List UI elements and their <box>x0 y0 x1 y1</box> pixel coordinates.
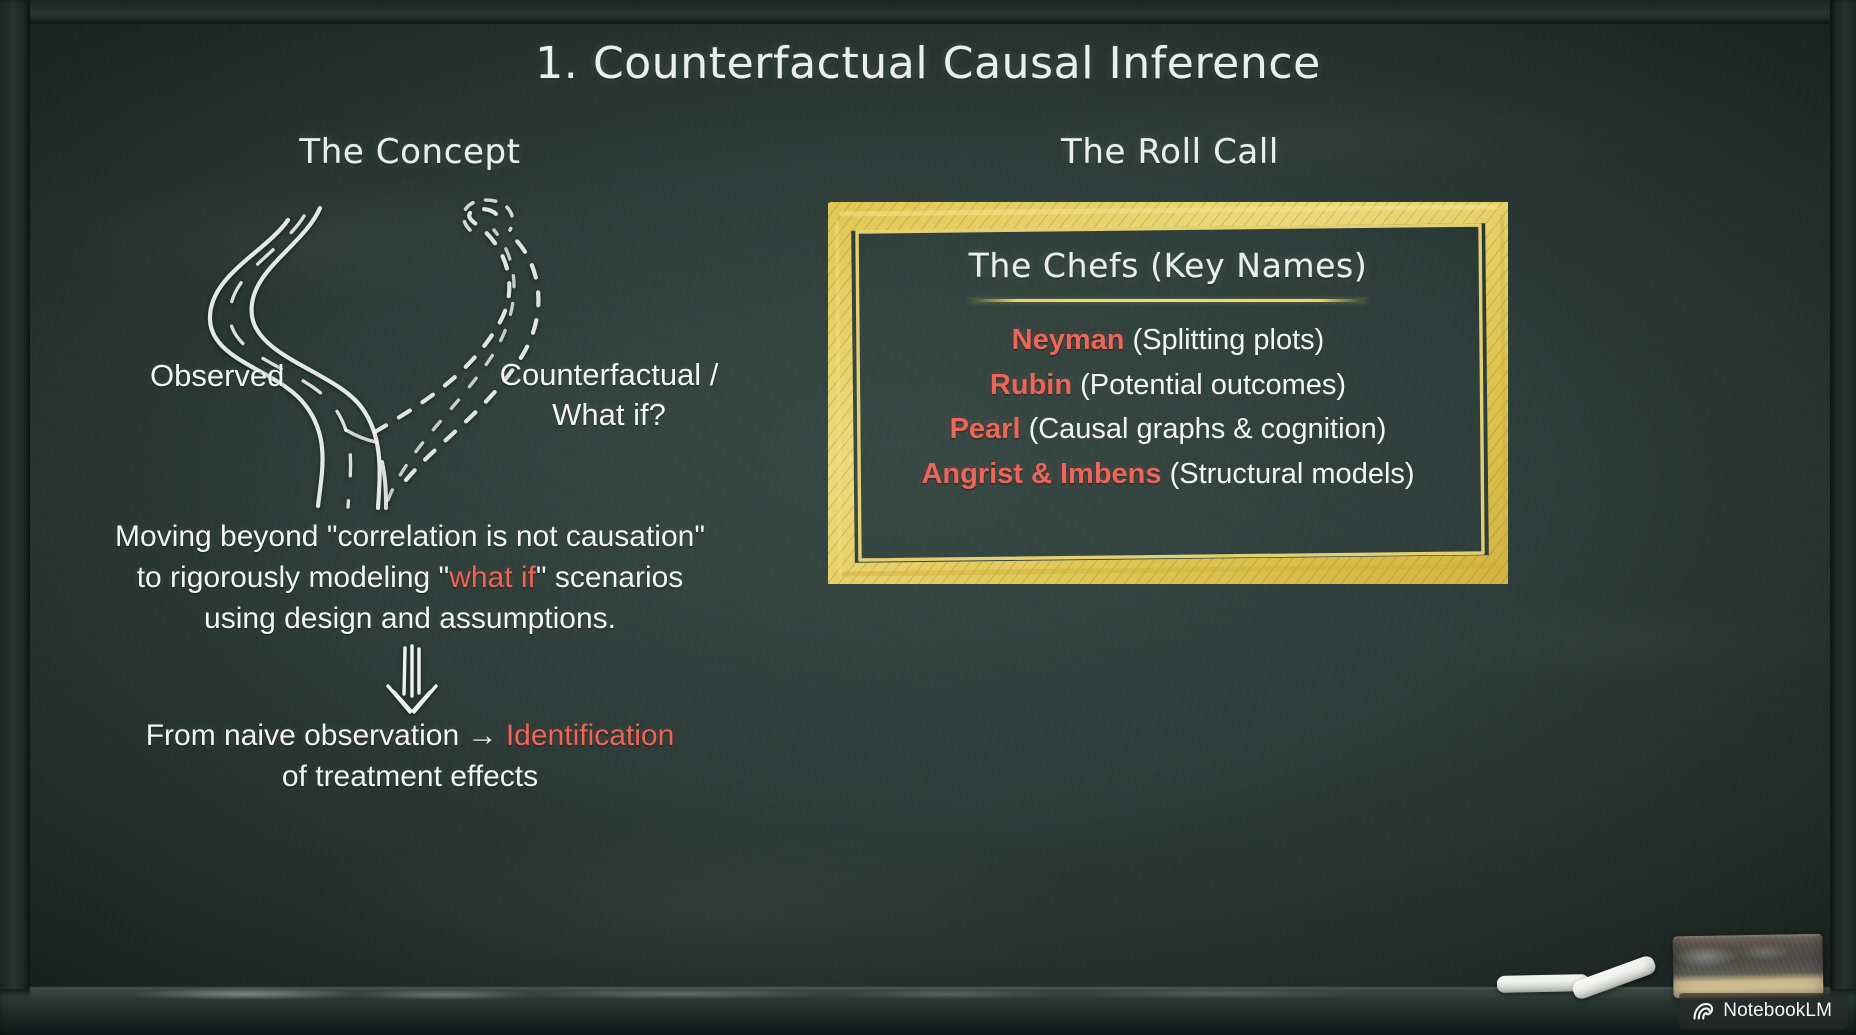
board-frame-top <box>0 0 1856 24</box>
chef-entry-angrist-imbens: Angrist & Imbens (Structural models) <box>921 452 1414 497</box>
chef-desc-neyman: (Splitting plots) <box>1124 324 1324 356</box>
chef-name-rubin: Rubin <box>990 369 1072 401</box>
chef-desc-angrist-imbens: (Structural models) <box>1162 458 1415 490</box>
notebooklm-label: NotebookLM <box>1723 1000 1832 1022</box>
concept-paragraph: Moving beyond "correlation is not causat… <box>60 516 760 639</box>
forking-road-diagram <box>170 180 640 510</box>
chefs-box-heading: The Chefs (Key Names) <box>969 246 1368 285</box>
chef-desc-rubin: (Potential outcomes) <box>1072 369 1346 401</box>
heading-the-concept: The Concept <box>160 132 660 172</box>
chef-name-neyman: Neyman <box>1012 324 1125 356</box>
conclusion-line-1-pre: From naive observation <box>146 719 468 752</box>
label-counterfactual-line2: What if? <box>552 397 666 432</box>
heading-the-roll-call: The Roll Call <box>900 132 1440 172</box>
label-observed: Observed <box>150 358 284 394</box>
chef-entry-pearl: Pearl (Causal graphs & cognition) <box>950 407 1387 452</box>
conclusion-line-2: of treatment effects <box>282 760 538 793</box>
paragraph-line-3: using design and assumptions. <box>204 602 616 635</box>
slide-title: 1. Counterfactual Causal Inference <box>0 38 1856 89</box>
chalkboard-slide: 1. Counterfactual Causal Inference The C… <box>0 0 1856 1035</box>
conclusion-arrow-glyph: → <box>468 719 498 752</box>
paragraph-quote-close: " <box>536 561 547 594</box>
paragraph-what-if-highlight: what if <box>449 561 536 594</box>
paragraph-quote-open: " <box>439 561 450 594</box>
chalk-stick-icon <box>1570 954 1657 1001</box>
chef-entry-rubin: Rubin (Potential outcomes) <box>990 363 1346 408</box>
chefs-key-names-box: The Chefs (Key Names) Neyman (Splitting … <box>828 202 1508 584</box>
notebooklm-arc-icon <box>1692 1001 1714 1021</box>
paragraph-line-1: Moving beyond "correlation is not causat… <box>115 520 705 553</box>
chef-desc-pearl: (Causal graphs & cognition) <box>1021 413 1387 445</box>
paragraph-line-2-post: scenarios <box>547 561 684 594</box>
label-counterfactual-line1: Counterfactual / <box>500 357 719 392</box>
chef-name-pearl: Pearl <box>950 413 1021 445</box>
conclusion-text: From naive observation → Identification … <box>60 716 760 798</box>
board-frame-left <box>0 0 30 1035</box>
chefs-box-content: The Chefs (Key Names) Neyman (Splitting … <box>864 230 1472 558</box>
label-counterfactual: Counterfactual / What if? <box>484 355 734 434</box>
paragraph-line-2-pre: to rigorously modeling <box>137 561 439 594</box>
board-frame-right <box>1830 0 1856 1035</box>
chef-entry-neyman: Neyman (Splitting plots) <box>1012 318 1325 363</box>
down-arrow-icon <box>372 644 452 716</box>
notebooklm-watermark: NotebookLM <box>1679 993 1848 1029</box>
chef-name-angrist-imbens: Angrist & Imbens <box>921 458 1161 490</box>
chefs-box-divider <box>968 299 1368 302</box>
conclusion-identification-highlight: Identification <box>498 719 675 752</box>
board-eraser-icon <box>1672 934 1823 999</box>
